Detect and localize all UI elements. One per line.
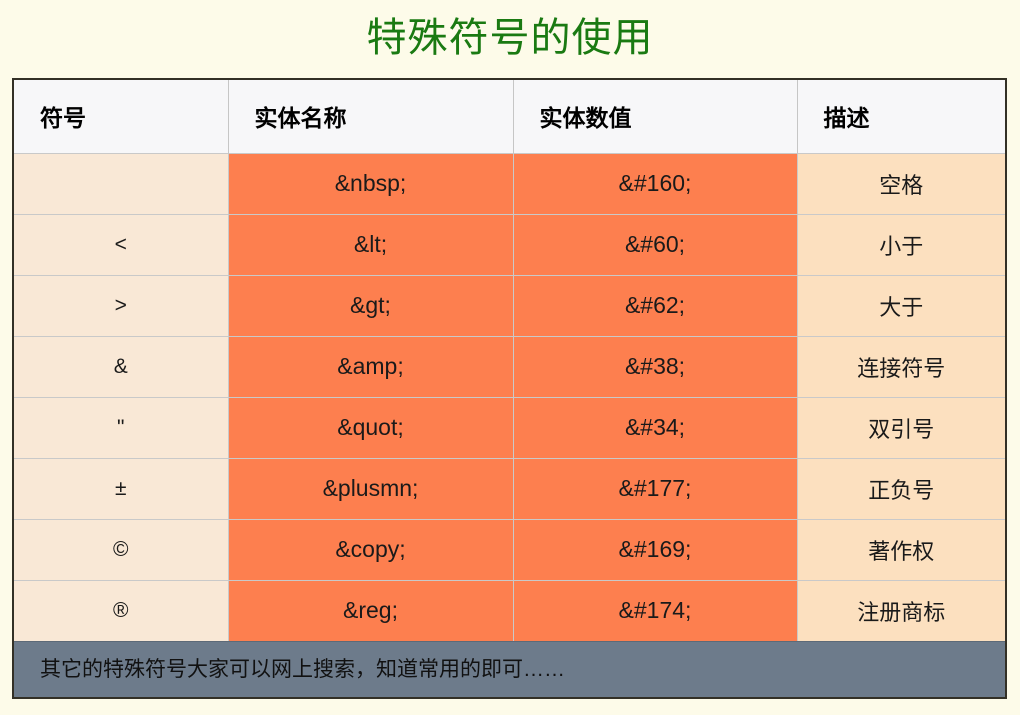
cell-entity-name: &reg;: [228, 580, 513, 641]
cell-symbol: [14, 153, 228, 214]
table-row: &nbsp;&#160;空格: [14, 153, 1005, 214]
cell-entity-name: &copy;: [228, 519, 513, 580]
cell-description: 空格: [797, 153, 1005, 214]
cell-entity-value: &#160;: [513, 153, 797, 214]
slide-page: 特殊符号的使用 符号 实体名称 实体数值 描述 &nbsp;&#160;空格<&…: [0, 0, 1020, 715]
table-row: ±&plusmn;&#177;正负号: [14, 458, 1005, 519]
column-header-entity-name: 实体名称: [228, 80, 513, 153]
cell-description: 大于: [797, 275, 1005, 336]
cell-entity-value: &#174;: [513, 580, 797, 641]
page-title: 特殊符号的使用: [0, 14, 1020, 62]
table-body: &nbsp;&#160;空格<&lt;&#60;小于>&gt;&#62;大于&&…: [14, 153, 1005, 641]
special-characters-table: 符号 实体名称 实体数值 描述 &nbsp;&#160;空格<&lt;&#60;…: [12, 78, 1007, 699]
cell-entity-name: &plusmn;: [228, 458, 513, 519]
cell-entity-value: &#62;: [513, 275, 797, 336]
cell-symbol: >: [14, 275, 228, 336]
cell-entity-name: &lt;: [228, 214, 513, 275]
cell-symbol: ": [14, 397, 228, 458]
header-row: 符号 实体名称 实体数值 描述: [14, 80, 1005, 153]
cell-description: 著作权: [797, 519, 1005, 580]
column-header-symbol: 符号: [14, 80, 228, 153]
cell-entity-name: &amp;: [228, 336, 513, 397]
cell-entity-name: &gt;: [228, 275, 513, 336]
cell-entity-name: &quot;: [228, 397, 513, 458]
table-row: ©&copy;&#169;著作权: [14, 519, 1005, 580]
cell-entity-value: &#177;: [513, 458, 797, 519]
table-row: "&quot;&#34;双引号: [14, 397, 1005, 458]
cell-symbol: &: [14, 336, 228, 397]
table-row: >&gt;&#62;大于: [14, 275, 1005, 336]
table: 符号 实体名称 实体数值 描述 &nbsp;&#160;空格<&lt;&#60;…: [14, 80, 1005, 641]
table-row: &&amp;&#38;连接符号: [14, 336, 1005, 397]
cell-entity-value: &#34;: [513, 397, 797, 458]
table-row: ®&reg;&#174;注册商标: [14, 580, 1005, 641]
footer-note: 其它的特殊符号大家可以网上搜索，知道常用的即可……: [14, 641, 1005, 697]
cell-entity-value: &#169;: [513, 519, 797, 580]
cell-description: 双引号: [797, 397, 1005, 458]
table-header: 符号 实体名称 实体数值 描述: [14, 80, 1005, 153]
column-header-entity-value: 实体数值: [513, 80, 797, 153]
cell-symbol: ®: [14, 580, 228, 641]
cell-description: 正负号: [797, 458, 1005, 519]
cell-description: 小于: [797, 214, 1005, 275]
cell-symbol: ©: [14, 519, 228, 580]
table-row: <&lt;&#60;小于: [14, 214, 1005, 275]
cell-description: 注册商标: [797, 580, 1005, 641]
cell-symbol: ±: [14, 458, 228, 519]
cell-entity-name: &nbsp;: [228, 153, 513, 214]
cell-entity-value: &#38;: [513, 336, 797, 397]
cell-entity-value: &#60;: [513, 214, 797, 275]
column-header-description: 描述: [797, 80, 1005, 153]
page-title-text: 特殊符号的使用: [367, 14, 654, 62]
cell-description: 连接符号: [797, 336, 1005, 397]
cell-symbol: <: [14, 214, 228, 275]
